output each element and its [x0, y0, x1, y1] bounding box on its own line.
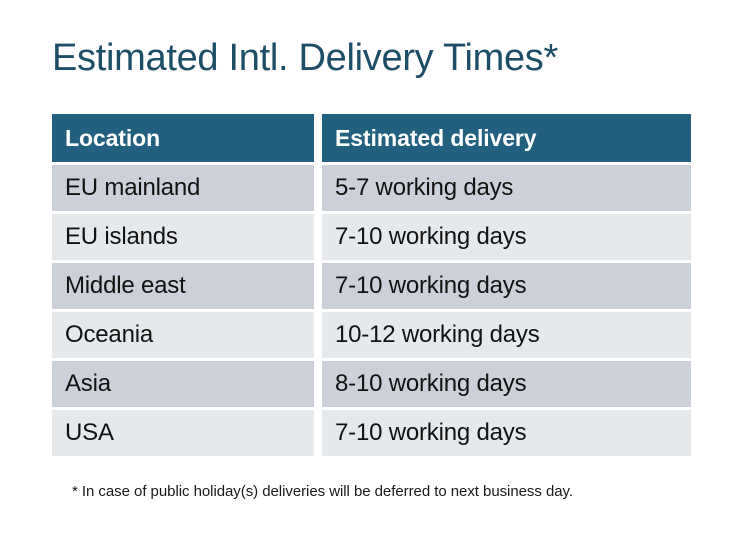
column-divider	[314, 361, 322, 407]
column-header-estimated-delivery: Estimated delivery	[322, 114, 691, 162]
cell-estimated-delivery: 10-12 working days	[322, 312, 691, 358]
cell-location: Middle east	[52, 263, 314, 309]
column-header-location: Location	[52, 114, 314, 162]
cell-estimated-delivery: 7-10 working days	[322, 410, 691, 456]
delivery-times-table: Location Estimated delivery EU mainland …	[52, 114, 691, 456]
page-title: Estimated Intl. Delivery Times*	[52, 33, 558, 83]
cell-estimated-delivery: 7-10 working days	[322, 214, 691, 260]
table-row: USA 7-10 working days	[52, 410, 691, 456]
cell-location: EU mainland	[52, 165, 314, 211]
cell-location: Asia	[52, 361, 314, 407]
table-row: EU mainland 5-7 working days	[52, 165, 691, 211]
column-divider	[314, 312, 322, 358]
column-divider	[314, 214, 322, 260]
table-row: Asia 8-10 working days	[52, 361, 691, 407]
cell-estimated-delivery: 5-7 working days	[322, 165, 691, 211]
cell-estimated-delivery: 7-10 working days	[322, 263, 691, 309]
cell-location: EU islands	[52, 214, 314, 260]
table-row: Middle east 7-10 working days	[52, 263, 691, 309]
column-divider	[314, 114, 322, 162]
column-divider	[314, 165, 322, 211]
column-divider	[314, 263, 322, 309]
footnote-text: * In case of public holiday(s) deliverie…	[72, 482, 573, 502]
cell-location: USA	[52, 410, 314, 456]
column-divider	[314, 410, 322, 456]
table-header-row: Location Estimated delivery	[52, 114, 691, 162]
table-row: EU islands 7-10 working days	[52, 214, 691, 260]
cell-estimated-delivery: 8-10 working days	[322, 361, 691, 407]
delivery-times-page: Estimated Intl. Delivery Times* Location…	[0, 0, 745, 536]
table-row: Oceania 10-12 working days	[52, 312, 691, 358]
cell-location: Oceania	[52, 312, 314, 358]
